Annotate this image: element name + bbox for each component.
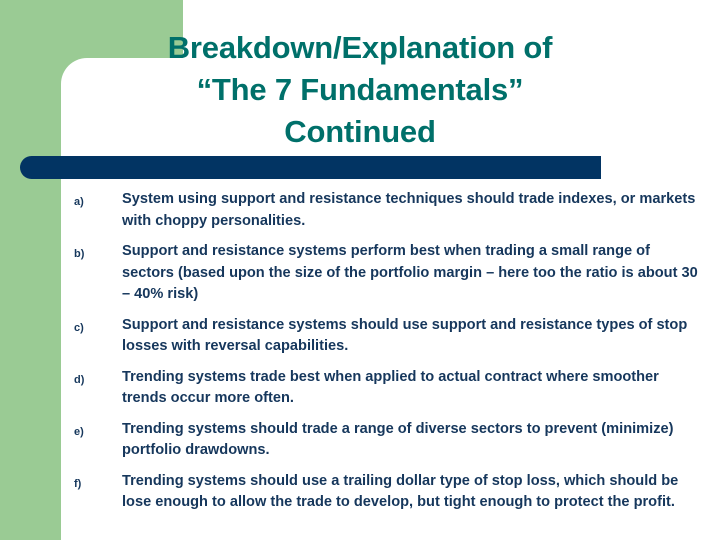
list-item-marker: e) (74, 422, 100, 444)
list-item: a) System using support and resistance t… (72, 189, 702, 232)
page-title: Breakdown/Explanation of “The 7 Fundamen… (90, 27, 630, 153)
list-item-marker: b) (74, 244, 100, 266)
page-title-line-3: Continued (90, 111, 630, 153)
page-title-line-1: Breakdown/Explanation of (90, 27, 630, 69)
list-item-text: Trending systems should use a trailing d… (122, 471, 702, 514)
list-item-text: Trending systems trade best when applied… (122, 367, 702, 410)
list-item: f) Trending systems should use a trailin… (72, 471, 702, 514)
list-item-text: Support and resistance systems should us… (122, 315, 702, 358)
list-item-marker: c) (74, 318, 100, 340)
list-item-marker: f) (74, 474, 100, 496)
page-title-line-2: “The 7 Fundamentals” (90, 69, 630, 111)
bullet-list: a) System using support and resistance t… (72, 189, 702, 523)
list-item-marker: a) (74, 192, 100, 214)
list-item-text: Support and resistance systems perform b… (122, 241, 702, 306)
list-item: c) Support and resistance systems should… (72, 315, 702, 358)
slide-canvas: Breakdown/Explanation of “The 7 Fundamen… (0, 0, 720, 540)
list-item-marker: d) (74, 370, 100, 392)
list-item-text: System using support and resistance tech… (122, 189, 702, 232)
list-item: e) Trending systems should trade a range… (72, 419, 702, 462)
list-item: b) Support and resistance systems perfor… (72, 241, 702, 306)
list-item: d) Trending systems trade best when appl… (72, 367, 702, 410)
accent-divider-bar (20, 156, 601, 179)
list-item-text: Trending systems should trade a range of… (122, 419, 702, 462)
